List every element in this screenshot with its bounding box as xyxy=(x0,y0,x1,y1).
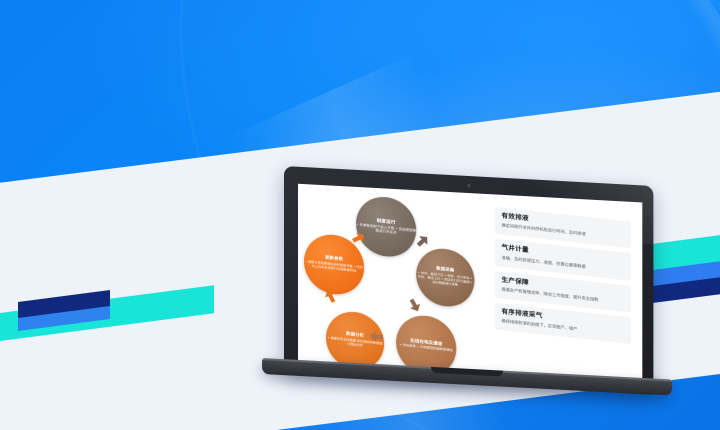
cycle-node-right[interactable]: 数据采集 • 关井、套压下行 • 停液、压力恢复 • 开井、套压上行 • 到达井… xyxy=(416,246,474,310)
cycle-node-body: • 多参数控制下投入开图 • 系统按照参数进行开关井 xyxy=(356,223,416,238)
feature-card-list: 有效排液 确定间歇开关井的停机和运行时间，及时排液 气井计量 准确、及时获得压力… xyxy=(494,207,631,350)
cycle-node-body: • 根据分析结果得出新的控制参数 • 同时与上位机系统进行远程数据传输 xyxy=(304,261,364,275)
cycle-diagram: 制度运行 • 多参数控制下投入开图 • 系统按照参数进行开关井 数据采集 • 关… xyxy=(304,188,480,382)
laptop-screen: 制度运行 • 多参数控制下投入开图 • 系统按照参数进行开关井 数据采集 • 关… xyxy=(298,184,642,382)
cycle-node-body: • 关井、套压下行 • 停液、压力恢复 • 开井、套压上行 • 到达井口压力曲线… xyxy=(416,272,474,289)
cycle-node-body: • 无线充电 • 与地面控制器数据通信 xyxy=(400,344,453,354)
page-root: 制度运行 • 多参数控制下投入开图 • 系统按照参数进行开关井 数据采集 • 关… xyxy=(0,0,720,430)
webcam-icon xyxy=(467,184,470,187)
cycle-arrow-icon-2 xyxy=(406,297,424,314)
slide-surface: 制度运行 • 多参数控制下投入开图 • 系统按照参数进行开关井 数据采集 • 关… xyxy=(298,184,642,382)
laptop-lid: 制度运行 • 多参数控制下投入开图 • 系统按照参数进行开关井 数据采集 • 关… xyxy=(284,166,653,395)
cycle-node-top[interactable]: 制度运行 • 多参数控制下投入开图 • 系统按照参数进行开关井 xyxy=(356,194,416,260)
cycle-arrow-icon-1 xyxy=(413,232,431,250)
laptop-device: 制度运行 • 多参数控制下投入开图 • 系统按照参数进行开关井 数据采集 • 关… xyxy=(262,166,672,392)
